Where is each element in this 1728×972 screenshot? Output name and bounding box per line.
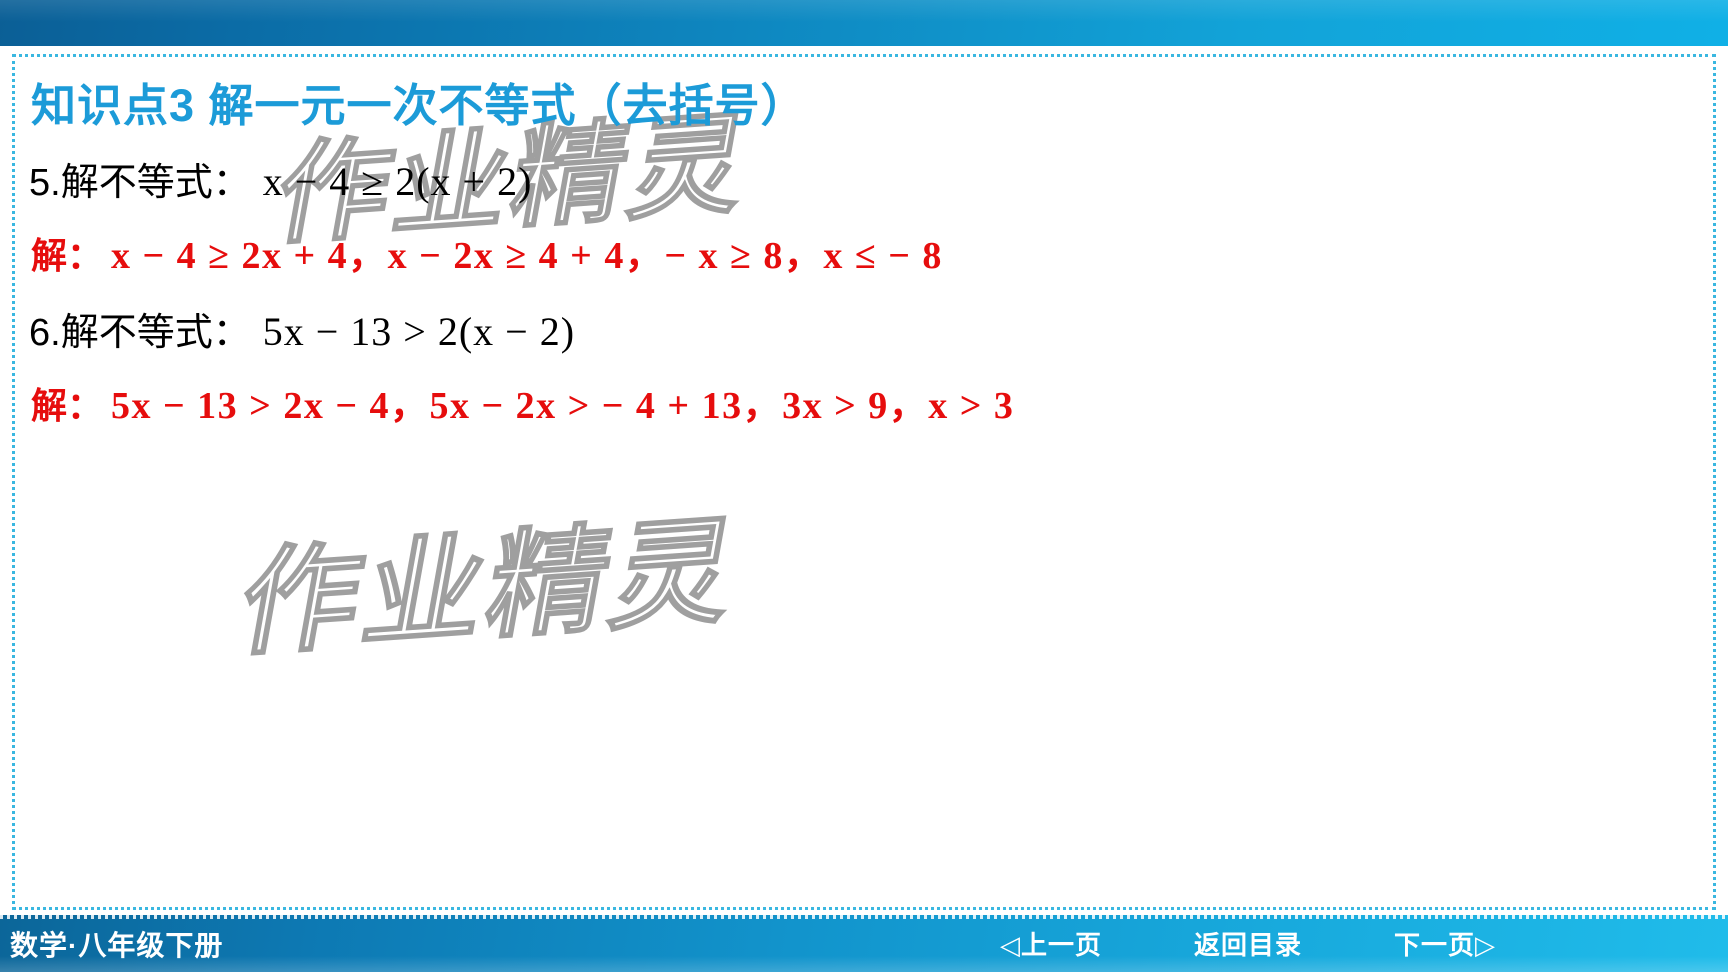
slide-body: 知识点3 解一元一次不等式（去括号） 5.解不等式：x − 4 ≥ 2(x + … xyxy=(15,57,1713,431)
answer-label-2: 解： xyxy=(31,385,103,426)
answer-line-2: 解：5x − 13 > 2x − 4，5x − 2x > − 4 + 13，3x… xyxy=(31,383,1713,431)
answer-math-2: 5x − 13 > 2x − 4，5x − 2x > − 4 + 13，3x >… xyxy=(103,385,1014,427)
question-math-1: x − 4 ≥ 2(x + 2) xyxy=(251,159,533,204)
answer-math-1: x − 4 ≥ 2x + 4，x − 2x ≥ 4 + 4，− x ≥ 8，x … xyxy=(103,235,943,277)
slide-content-frame: 作业精灵 作业精灵 知识点3 解一元一次不等式（去括号） 5.解不等式：x − … xyxy=(12,54,1716,910)
answer-line-1: 解：x − 4 ≥ 2x + 4，x − 2x ≥ 4 + 4，− x ≥ 8，… xyxy=(31,233,1713,281)
page-title: 知识点3 解一元一次不等式（去括号） xyxy=(31,81,1713,131)
header-sheen-overlay xyxy=(0,0,1728,22)
question-line-1: 5.解不等式：x − 4 ≥ 2(x + 2) xyxy=(29,157,1713,208)
next-page-button[interactable]: 下一页▷ xyxy=(1394,925,1496,962)
question-line-2: 6.解不等式：5x − 13 > 2(x − 2) xyxy=(29,307,1713,358)
top-header-bar xyxy=(0,0,1728,46)
prev-page-button[interactable]: ◁上一页 xyxy=(1000,925,1102,962)
footer-bar: 数学·八年级下册 ◁上一页 返回目录 下一页▷ xyxy=(0,915,1728,972)
footer-book-title: 数学·八年级下册 xyxy=(10,924,223,964)
answer-label-1: 解： xyxy=(31,235,103,276)
question-math-2: 5x − 13 > 2(x − 2) xyxy=(251,309,575,354)
question-label-2: 6.解不等式： xyxy=(29,312,251,354)
question-label-1: 5.解不等式： xyxy=(29,162,251,204)
watermark-text-middle: 作业精灵 xyxy=(228,474,754,679)
back-to-contents-button[interactable]: 返回目录 xyxy=(1194,925,1302,962)
footer-navigation: ◁上一页 返回目录 下一页▷ xyxy=(1000,915,1728,972)
